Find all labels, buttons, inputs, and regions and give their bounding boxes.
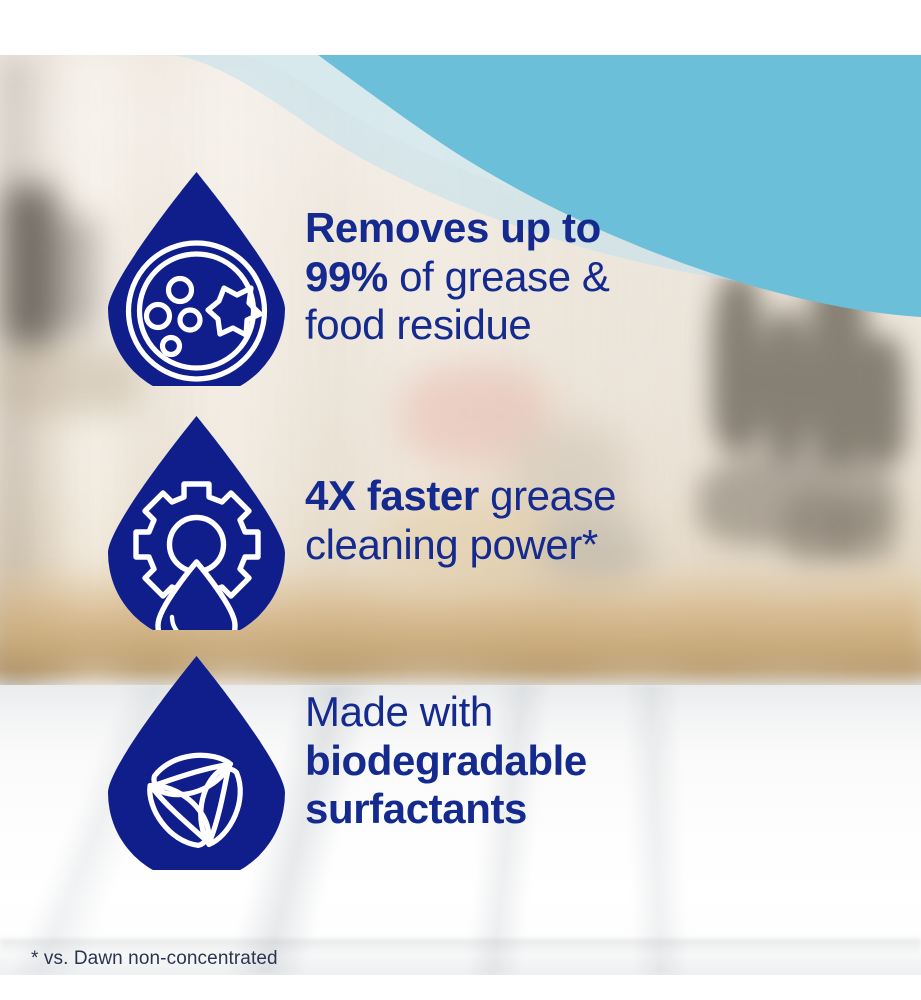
benefits-list: Removes up to 99% of grease & food resid… <box>0 0 921 1000</box>
benefit-line: food residue <box>305 301 745 350</box>
three-leaves-recycling-icon <box>104 652 289 870</box>
benefit-line: Made with <box>305 688 745 737</box>
benefit-line: Removes up to <box>305 204 745 253</box>
benefit-row-3: Made with biodegradable surfactants <box>104 652 745 870</box>
footnote-text: * vs. Dawn non-concentrated <box>31 948 278 970</box>
benefit-line: surfactants <box>305 785 745 834</box>
benefit-text-3: Made with biodegradable surfactants <box>305 688 745 834</box>
benefit-line: 4X faster grease <box>305 472 745 521</box>
benefit-text-1: Removes up to 99% of grease & food resid… <box>305 204 745 350</box>
benefit-line: 99% of grease & <box>305 253 745 302</box>
gear-with-droplet-icon <box>104 412 289 630</box>
benefit-row-2: 4X faster grease cleaning power* <box>104 412 745 630</box>
plate-with-food-residue-icon <box>104 168 289 386</box>
benefit-text-2: 4X faster grease cleaning power* <box>305 472 745 569</box>
benefit-row-1: Removes up to 99% of grease & food resid… <box>104 168 745 386</box>
benefit-line: cleaning power* <box>305 521 745 570</box>
droplet-shape <box>108 656 285 870</box>
infographic-canvas: Removes up to 99% of grease & food resid… <box>0 0 921 1000</box>
benefit-line: biodegradable <box>305 737 745 786</box>
